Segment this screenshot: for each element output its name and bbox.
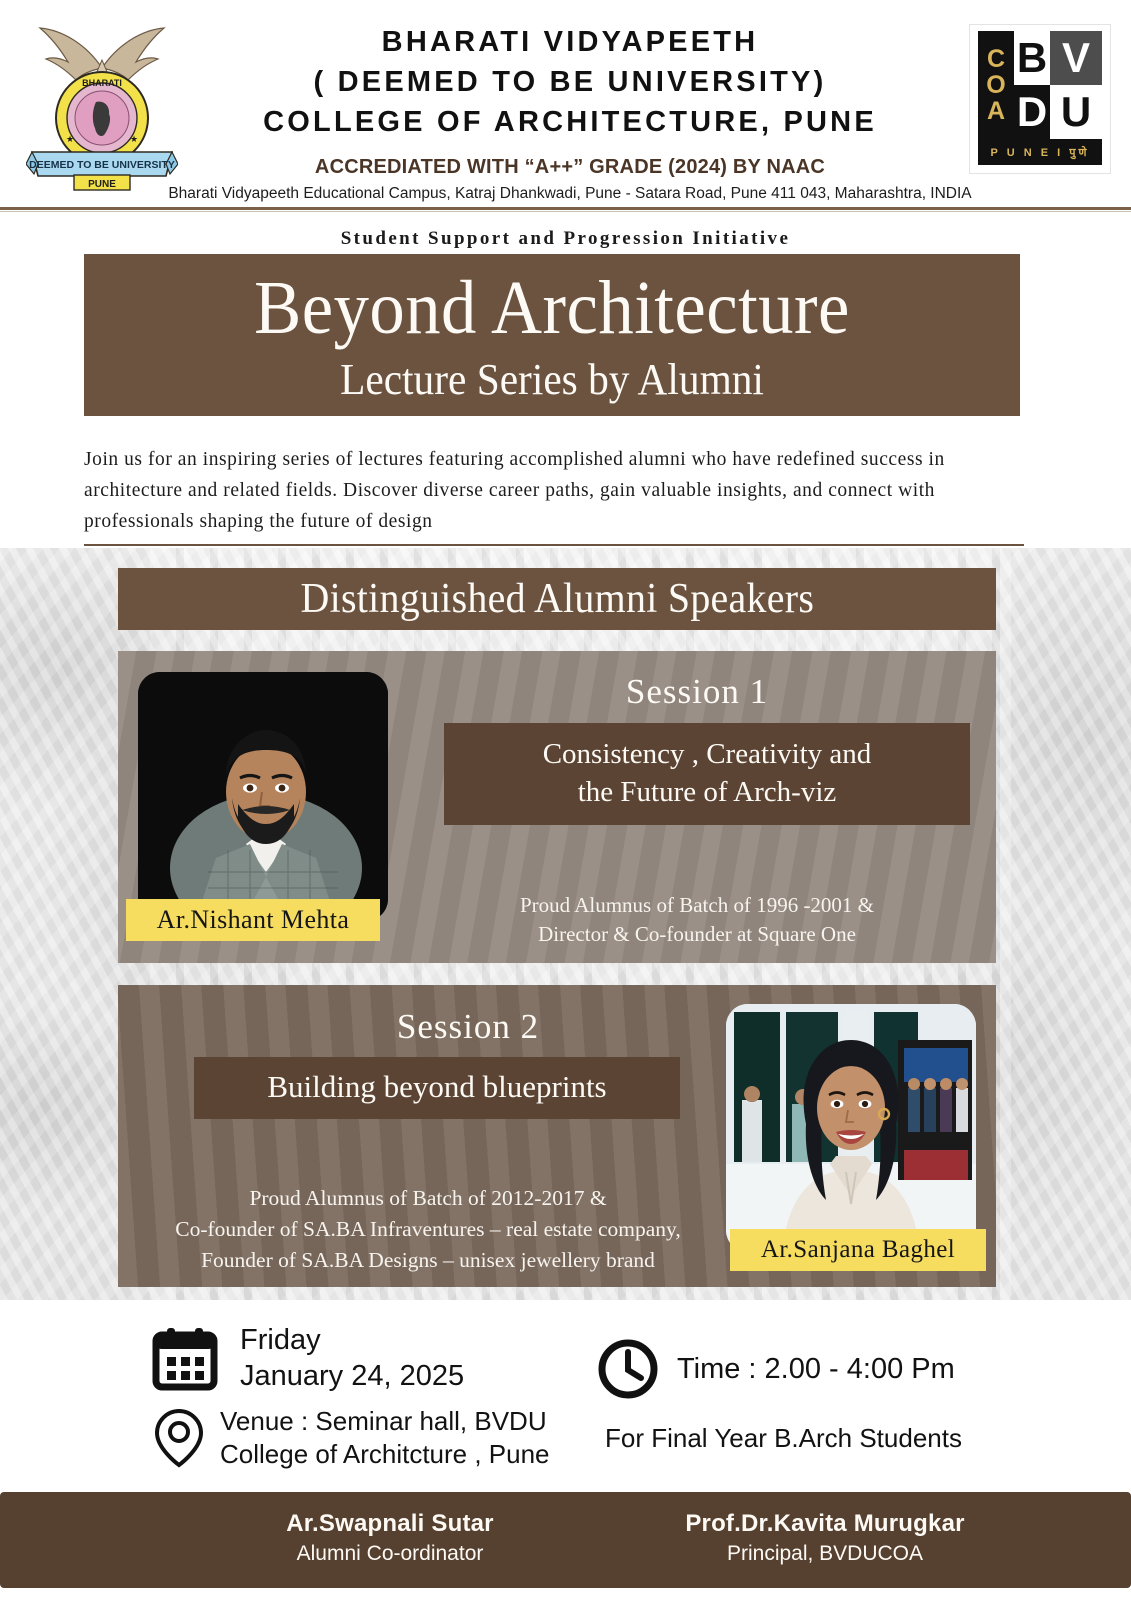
university-title: BHARATI VIDYAPEETH ( DEEMED TO BE UNIVER… xyxy=(200,22,940,142)
session-1-topic-line-1: Consistency , Creativity and xyxy=(454,735,960,773)
svg-text:DEEMED TO BE UNIVERSITY: DEEMED TO BE UNIVERSITY xyxy=(29,159,175,171)
poster-footer: Ar.Swapnali Sutar Alumni Co-ordinator Pr… xyxy=(0,1492,1131,1588)
coa-letter-c: C xyxy=(987,46,1005,72)
coa-letter-o: O xyxy=(986,72,1005,98)
session-2-bio-line-1: Proud Alumnus of Batch of 2012-2017 & xyxy=(138,1183,718,1214)
bvdu-letter-d: D xyxy=(1014,85,1050,139)
event-details: Friday January 24, 2025 Venue : Seminar … xyxy=(0,1300,1131,1490)
svg-text:BHARATI: BHARATI xyxy=(82,78,122,88)
coa-letter-a: A xyxy=(987,98,1005,124)
accreditation-text: ACCREDIATED WITH “A++” GRADE (2024) BY N… xyxy=(160,156,980,179)
bvdu-logo-grid: B V C O A D U xyxy=(978,31,1102,139)
page-title: Beyond Architecture xyxy=(117,266,987,350)
footer-principal: Prof.Dr.Kavita Murugkar Principal, BVDUC… xyxy=(545,1508,1105,1568)
university-title-line-1: BHARATI VIDYAPEETH xyxy=(200,22,940,62)
speakers-heading-band: Distinguished Alumni Speakers xyxy=(118,568,996,630)
bvdu-letter-u: U xyxy=(1050,85,1102,139)
bvdu-letter-b: B xyxy=(1014,31,1050,85)
session-1-bio: Proud Alumnus of Batch of 1996 -2001 & D… xyxy=(418,891,976,949)
session-2-bio-line-3: Founder of SA.BA Designs – unisex jewell… xyxy=(138,1245,718,1276)
speaker-name-badge-2: Ar.Sanjana Baghel xyxy=(730,1229,986,1271)
date-row: Friday January 24, 2025 xyxy=(150,1322,464,1394)
session-1-bio-line-2: Director & Co-founder at Square One xyxy=(418,920,976,949)
time-row: Time : 2.00 - 4:00 Pm xyxy=(597,1338,955,1400)
location-pin-icon xyxy=(152,1407,206,1469)
initiative-tagline: Student Support and Progression Initiati… xyxy=(0,228,1131,250)
audience-row: For Final Year B.Arch Students xyxy=(605,1422,962,1455)
campus-address: Bharati Vidyapeeth Educational Campus, K… xyxy=(60,185,1080,203)
header-divider-thin xyxy=(0,211,1131,212)
university-crest-icon: BHARATI VIDYAPEETH ★ ★ DEEMED TO BE UNIV… xyxy=(26,14,178,192)
venue-line-2: College of Architcture , Pune xyxy=(220,1438,550,1471)
principal-name: Prof.Dr.Kavita Murugkar xyxy=(545,1508,1105,1539)
intro-divider xyxy=(84,544,1024,546)
university-title-line-3: COLLEGE OF ARCHITECTURE, PUNE xyxy=(200,102,940,142)
session-2-label: Session 2 xyxy=(258,1007,678,1047)
session-2-topic: Building beyond blueprints xyxy=(194,1057,680,1119)
session-2-bio-line-2: Co-founder of SA.BA Infraventures – real… xyxy=(138,1214,718,1245)
event-date: January 24, 2025 xyxy=(240,1358,464,1394)
poster-root: BHARATI VIDYAPEETH ★ ★ DEEMED TO BE UNIV… xyxy=(0,0,1131,1600)
venue-row: Venue : Seminar hall, BVDU College of Ar… xyxy=(152,1405,550,1471)
audience-text: For Final Year B.Arch Students xyxy=(605,1422,962,1455)
venue-line-1: Venue : Seminar hall, BVDU xyxy=(220,1405,550,1438)
svg-text:★: ★ xyxy=(130,134,138,144)
bvdu-coa-logo: B V C O A D U P U N E I पुणे xyxy=(969,24,1111,174)
session-1-topic-line-2: the Future of Arch-viz xyxy=(454,773,960,811)
bvdu-logo-footer: P U N E I पुणे xyxy=(978,139,1102,165)
session-2-bio: Proud Alumnus of Batch of 2012-2017 & Co… xyxy=(138,1183,718,1276)
university-title-line-2: ( DEEMED TO BE UNIVERSITY) xyxy=(200,62,940,102)
svg-text:★: ★ xyxy=(66,134,74,144)
session-1-topic: Consistency , Creativity and the Future … xyxy=(444,723,970,825)
header-divider xyxy=(0,207,1131,210)
session-1-card: Ar.Nishant Mehta Session 1 Consistency ,… xyxy=(118,651,996,963)
session-1-bio-line-1: Proud Alumnus of Batch of 1996 -2001 & xyxy=(418,891,976,920)
intro-paragraph: Join us for an inspiring series of lectu… xyxy=(84,444,1032,537)
bvdu-letter-v: V xyxy=(1050,31,1102,85)
page-subtitle: Lecture Series by Alumni xyxy=(112,354,992,406)
session-1-label: Session 1 xyxy=(418,672,976,712)
calendar-icon xyxy=(150,1323,220,1393)
clock-icon xyxy=(597,1338,659,1400)
speaker-photo-sanjana-baghel xyxy=(726,1004,976,1252)
bvdu-coa-letters: C O A xyxy=(978,31,1014,139)
principal-role: Principal, BVDUCOA xyxy=(545,1539,1105,1568)
speaker-2-name: Ar.Sanjana Baghel xyxy=(761,1236,955,1264)
session-2-topic-line-1: Building beyond blueprints xyxy=(202,1067,672,1107)
speaker-1-name: Ar.Nishant Mehta xyxy=(157,905,350,935)
speakers-heading: Distinguished Alumni Speakers xyxy=(300,575,814,623)
session-2-card: Session 2 Building beyond blueprints Pro… xyxy=(118,985,996,1287)
poster-header: BHARATI VIDYAPEETH ★ ★ DEEMED TO BE UNIV… xyxy=(0,0,1131,206)
speaker-photo-nishant-mehta xyxy=(138,672,388,921)
title-band: Beyond Architecture Lecture Series by Al… xyxy=(84,254,1020,416)
event-day: Friday xyxy=(240,1322,464,1358)
event-time: Time : 2.00 - 4:00 Pm xyxy=(677,1351,955,1387)
speaker-name-badge-1: Ar.Nishant Mehta xyxy=(126,899,380,941)
